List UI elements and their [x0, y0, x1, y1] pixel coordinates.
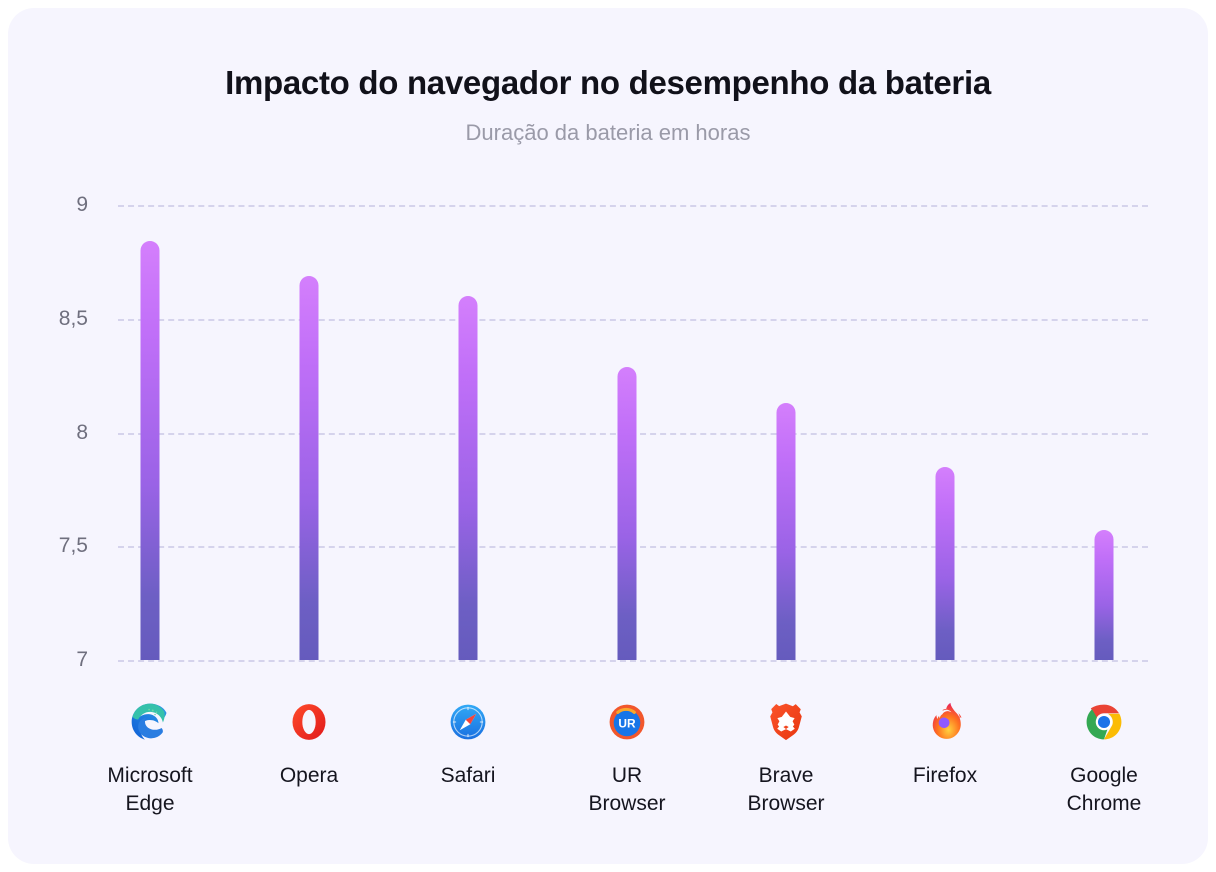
brave-browser-icon [764, 700, 808, 744]
x-axis-category-label-line: Firefox [865, 762, 1025, 790]
x-axis-category-label-line: Chrome [1024, 790, 1184, 818]
bar[interactable] [777, 403, 796, 660]
x-axis-category-label: MicrosoftEdge [70, 762, 230, 818]
firefox-icon [923, 700, 967, 744]
x-axis-category-label: Firefox [865, 762, 1025, 790]
x-axis-category-label: Safari [388, 762, 548, 790]
bar[interactable] [141, 241, 160, 660]
x-axis-category-label: GoogleChrome [1024, 762, 1184, 818]
bar[interactable] [618, 367, 637, 660]
x-axis-category-label-line: Microsoft [70, 762, 230, 790]
y-axis-tick-label: 7,5 [28, 534, 88, 558]
x-axis-category-label: Opera [229, 762, 389, 790]
x-axis-category-label-line: Opera [229, 762, 389, 790]
svg-text:UR: UR [618, 717, 636, 731]
ur-browser-icon: UR [605, 700, 649, 744]
x-axis-category-label-line: Google [1024, 762, 1184, 790]
microsoft-edge-icon [128, 700, 172, 744]
y-axis-tick-label: 8 [28, 421, 88, 445]
y-axis-tick-label: 9 [28, 193, 88, 217]
bar[interactable] [1095, 530, 1114, 660]
opera-icon [287, 700, 331, 744]
y-axis-tick-label: 8,5 [28, 307, 88, 331]
x-axis-category-label-line: Edge [70, 790, 230, 818]
bar[interactable] [300, 276, 319, 660]
gridline [118, 205, 1148, 207]
chart-card: Impacto do navegador no desempenho da ba… [8, 8, 1208, 864]
x-axis-category-label-line: Browser [547, 790, 707, 818]
y-axis-tick-label: 7 [28, 648, 88, 672]
gridline [118, 319, 1148, 321]
safari-icon [446, 700, 490, 744]
bar[interactable] [459, 296, 478, 660]
x-axis-category-label: BraveBrowser [706, 762, 866, 818]
x-axis-category-label-line: Browser [706, 790, 866, 818]
plot-area: 98,587,57 MicrosoftEdge [8, 8, 1208, 864]
bar[interactable] [936, 467, 955, 660]
x-axis-category-label: URBrowser [547, 762, 707, 818]
x-axis-category-label-line: Safari [388, 762, 548, 790]
google-chrome-icon [1082, 700, 1126, 744]
x-axis-category-label-line: UR [547, 762, 707, 790]
x-axis-category-label-line: Brave [706, 762, 866, 790]
gridline [118, 660, 1148, 662]
